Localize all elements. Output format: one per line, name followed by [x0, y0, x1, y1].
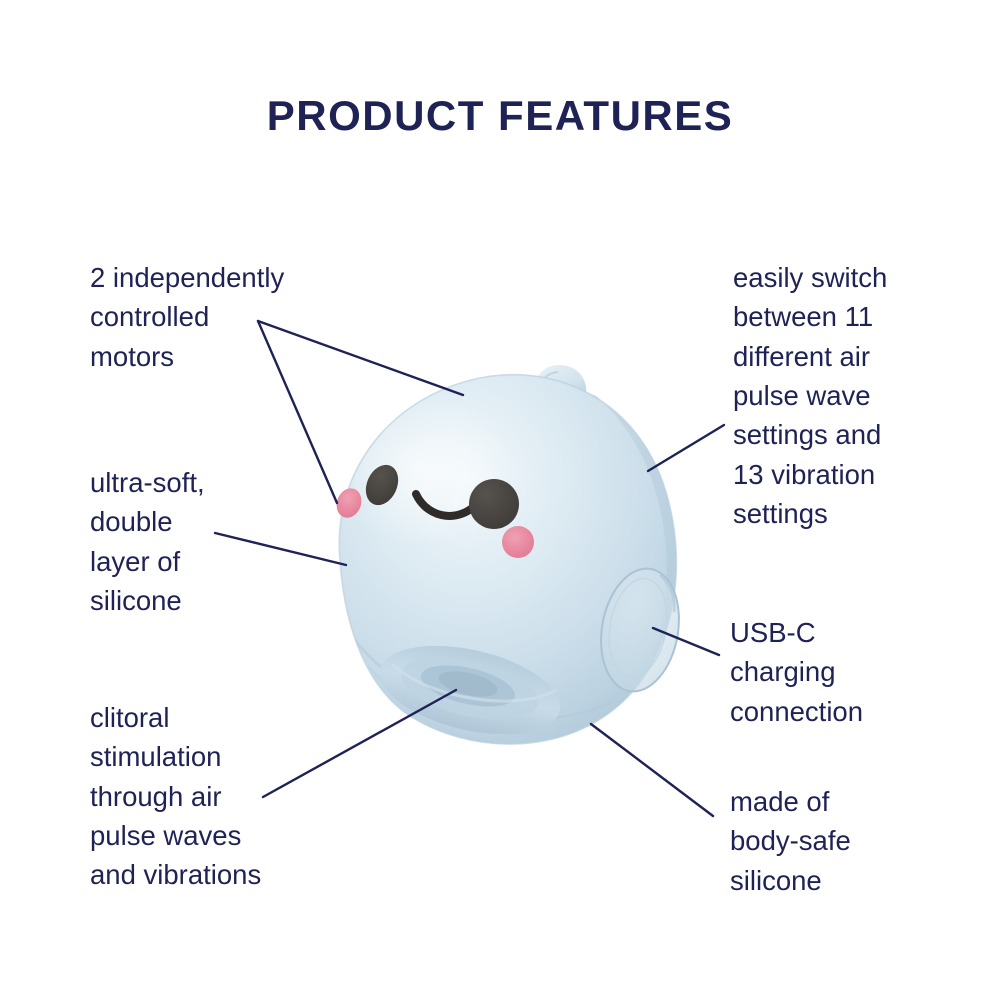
infographic-canvas: PRODUCT FEATURES — [0, 0, 1000, 1000]
product-illustration — [0, 0, 1000, 1000]
right-blush-icon — [502, 526, 534, 558]
right-eye-icon — [469, 479, 519, 529]
